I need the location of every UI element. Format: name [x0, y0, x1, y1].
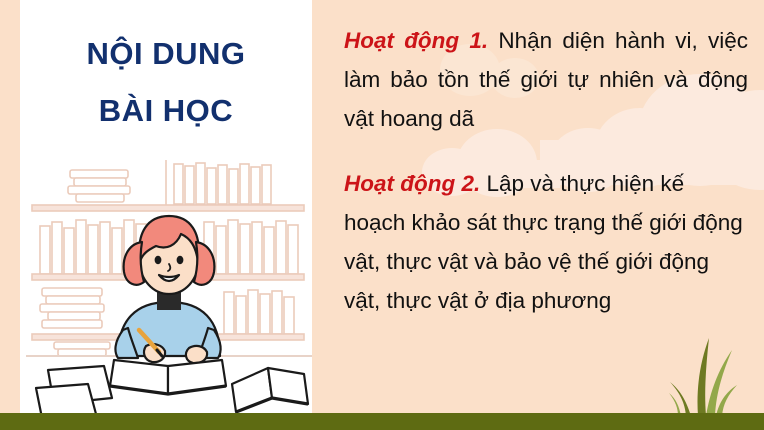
- page-title-line-1: NỘI DUNG: [20, 38, 312, 69]
- ground-strip: [0, 413, 764, 430]
- activity-item-2: Hoạt động 2. Lập và thực hiện kế hoạch k…: [344, 165, 748, 321]
- left-accent-strip: [0, 0, 20, 430]
- activity-1-label: Hoạt động 1.: [344, 28, 488, 53]
- left-white-panel: NỘI DUNG BÀI HỌC: [20, 0, 312, 430]
- page-title-line-2: BÀI HỌC: [20, 95, 312, 126]
- girl-studying-illustration: [26, 160, 312, 428]
- slide-canvas: NỘI DUNG BÀI HỌC: [0, 0, 764, 430]
- activities-list: Hoạt động 1. Nhận diện hành vi, việc làm…: [344, 22, 748, 320]
- activity-item-1: Hoạt động 1. Nhận diện hành vi, việc làm…: [344, 22, 748, 139]
- page-title: NỘI DUNG BÀI HỌC: [20, 38, 312, 126]
- grass-icon: [636, 336, 746, 416]
- activity-2-label: Hoạt động 2.: [344, 171, 480, 196]
